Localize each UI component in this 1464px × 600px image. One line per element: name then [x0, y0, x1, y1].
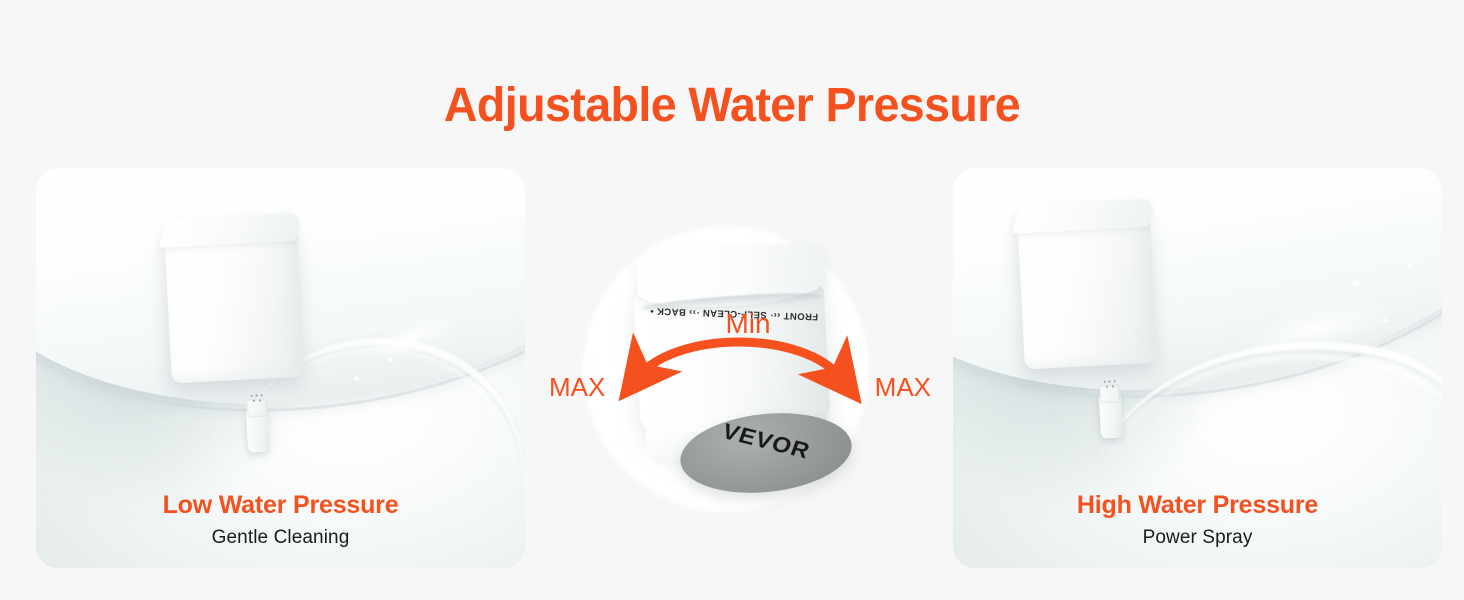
pressure-range-arrow: [525, 168, 953, 568]
caption-subtitle: Power Spray: [953, 524, 1442, 553]
caption-subtitle: Gentle Cleaning: [36, 524, 525, 553]
dial-max-right-label: MAX: [875, 372, 931, 403]
water-droplet: [1383, 318, 1388, 323]
spray-nozzle: [1099, 393, 1123, 438]
water-droplet: [354, 376, 359, 381]
panel-caption-high: High Water Pressure Power Spray: [953, 489, 1442, 553]
spray-nozzle-head: [1099, 385, 1120, 404]
caption-title: High Water Pressure: [953, 489, 1442, 521]
spray-nozzle-holes: [1103, 380, 1117, 391]
bidet-attachment-body: [164, 225, 305, 384]
dial-max-left-label: MAX: [549, 372, 605, 403]
dial-min-label: Min: [534, 308, 962, 340]
page-title: Adjustable Water Pressure: [22, 78, 1442, 133]
spray-nozzle-holes: [250, 394, 264, 405]
panel-high-pressure: High Water Pressure Power Spray: [953, 168, 1442, 568]
spray-nozzle: [246, 407, 270, 452]
product-feature-banner: Adjustable Water Pressure Low W: [0, 0, 1464, 600]
water-droplet: [1408, 264, 1412, 268]
arrow-path: [637, 342, 841, 378]
dial-illustration: FRONT ‹‹· SELF-CLEAN ·›› BACK • VEVOR Mi…: [525, 168, 953, 568]
spray-nozzle-head: [246, 399, 267, 418]
water-droplet: [388, 358, 392, 362]
bidet-attachment-body: [1017, 211, 1158, 370]
caption-title: Low Water Pressure: [36, 489, 525, 521]
panel-low-pressure: Low Water Pressure Gentle Cleaning: [36, 168, 525, 568]
water-droplet: [1353, 280, 1359, 286]
panel-caption-low: Low Water Pressure Gentle Cleaning: [36, 489, 525, 553]
